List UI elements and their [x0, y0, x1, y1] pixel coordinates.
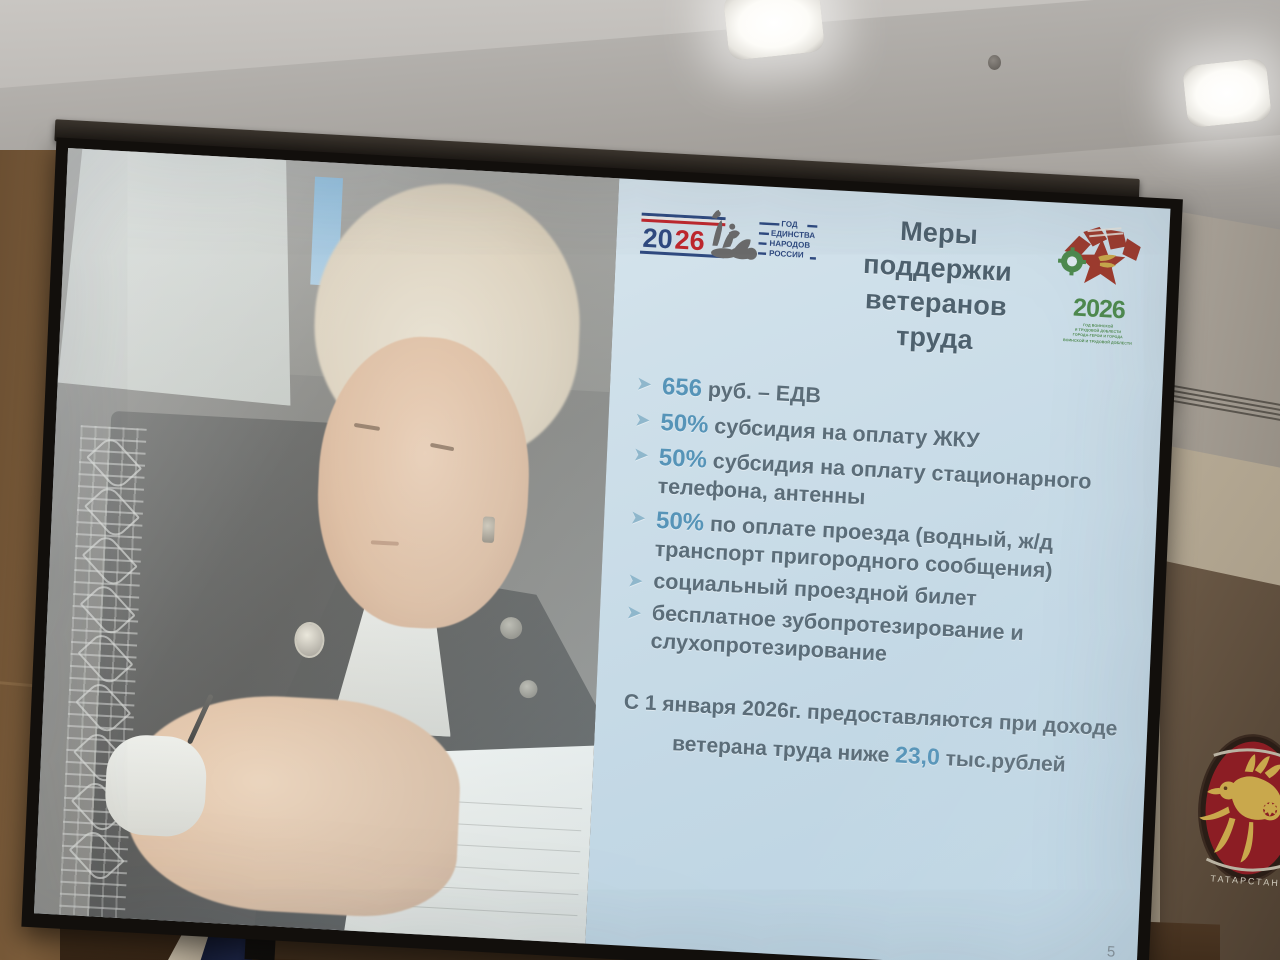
smoke-detector-icon: [988, 55, 1001, 70]
projection-screen: 20 26: [0, 104, 1190, 960]
bullet-highlight: 50%: [658, 444, 707, 474]
medal-ribbon-icon: [482, 516, 495, 543]
screen-frame: 20 26: [21, 137, 1183, 960]
ceiling-light-right-icon: [1182, 58, 1272, 128]
tatarstan-coat-of-arms-icon: ТАТАРСТАН: [1190, 712, 1280, 909]
logo-right-year: 2026: [1055, 295, 1142, 325]
bullet-arrow-icon: ➤: [630, 506, 647, 532]
bullet-highlight: 656: [661, 373, 702, 402]
medal-icon: [519, 679, 538, 698]
footnote-line2-after: тыс.рублей: [939, 746, 1066, 776]
slide-content: 20 26: [585, 178, 1170, 960]
year-of-valour-logo: 2026 ГОД ВОИНСКОЙ И ТРУДОВОЙ ДОБЛЕСТИ ГО…: [1054, 221, 1145, 347]
bullet-arrow-icon: ➤: [627, 569, 644, 595]
bullet-highlight: 50%: [655, 507, 704, 537]
ceiling-light-left-icon: [723, 0, 825, 61]
bullet-text: руб. – ЕДВ: [701, 378, 821, 409]
slide-page-number: 5: [1107, 943, 1116, 960]
bullet-arrow-icon: ➤: [625, 601, 642, 627]
footnote-highlight: 23,0: [895, 741, 941, 769]
slide-title-line2: ветеранов труда: [824, 280, 1047, 362]
logo-left-line1: ГОД: [781, 219, 798, 229]
bullet-arrow-icon: ➤: [632, 443, 649, 469]
year-of-unity-logo: 20 26: [637, 198, 820, 281]
income-threshold-note: С 1 января 2026г. предоставляются при до…: [615, 684, 1124, 787]
svg-text:ТАТАРСТАН: ТАТАРСТАН: [1210, 873, 1280, 888]
svg-text:26: 26: [674, 225, 705, 257]
svg-text:20: 20: [642, 223, 673, 255]
support-measures-list: ➤ 656 руб. – ЕДВ ➤ 50% субсидия на оплат…: [620, 370, 1138, 682]
veteran-photo: [34, 148, 619, 944]
slide-title-line1: Меры поддержки: [827, 210, 1050, 292]
footnote-line2-before: ветерана труда ниже: [672, 732, 896, 767]
slide-title: Меры поддержки ветеранов труда: [824, 208, 1050, 362]
bullet-highlight: 50%: [660, 409, 709, 439]
conference-hall-scene: ТАТАРСТАН: [0, 0, 1280, 960]
bullet-arrow-icon: ➤: [634, 408, 651, 434]
logo-left-line4: РОССИИ: [769, 249, 804, 260]
projected-slide: 20 26: [34, 148, 1170, 960]
bullet-arrow-icon: ➤: [636, 373, 653, 399]
slide-header: 20 26: [634, 198, 1146, 368]
